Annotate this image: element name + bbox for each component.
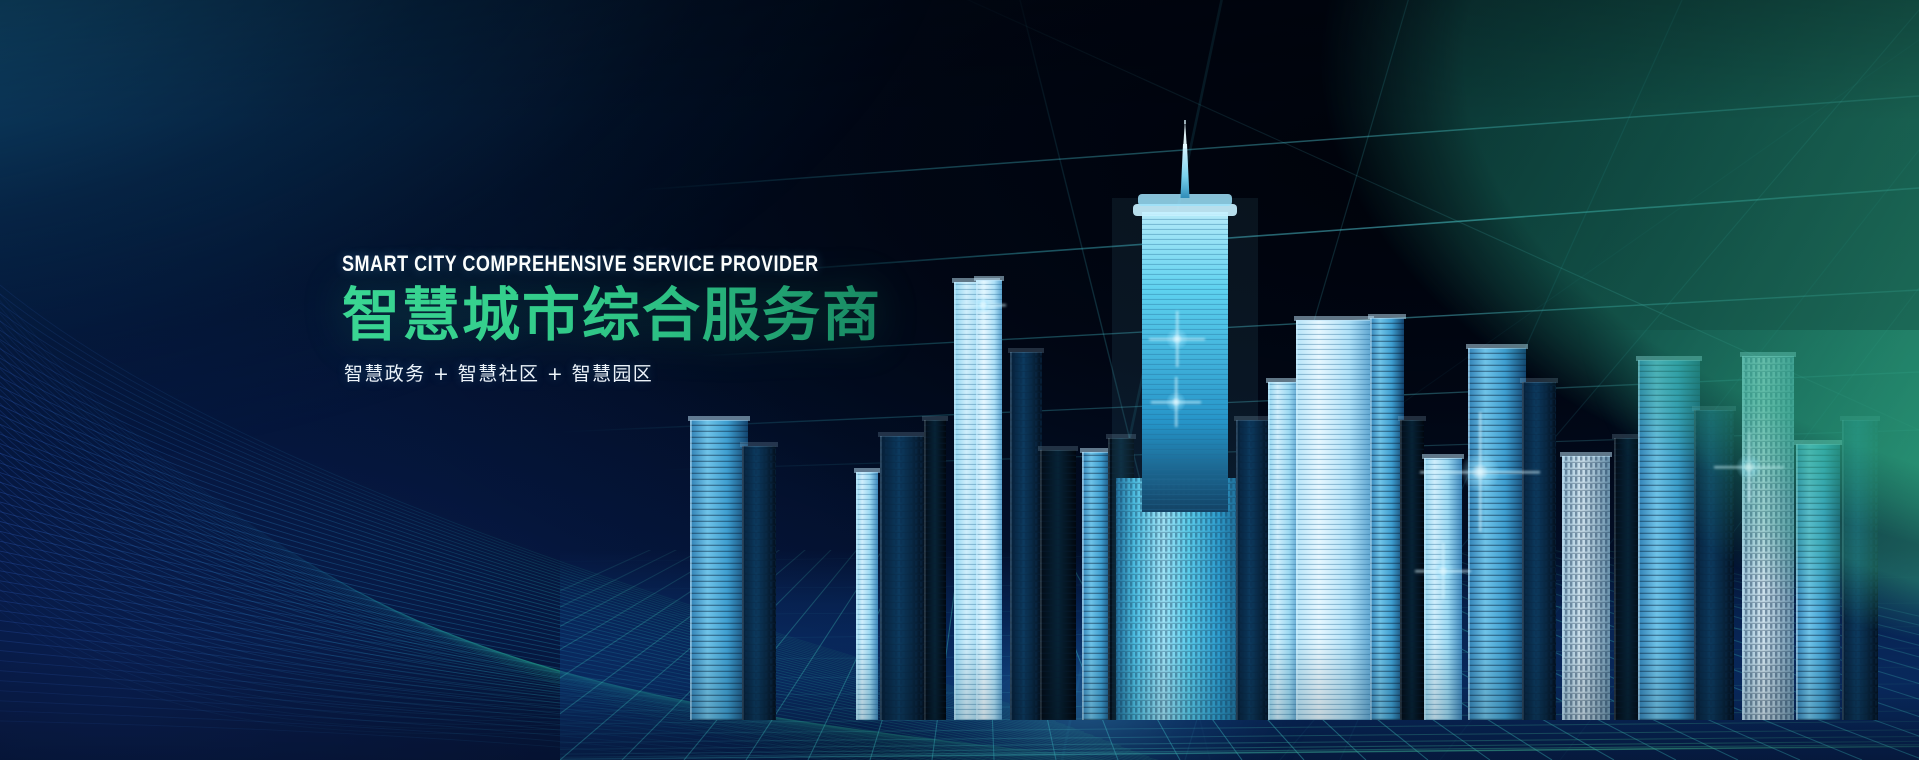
page-title: 智慧城市综合服务商	[342, 284, 923, 347]
eyebrow-text: SMART CITY COMPREHENSIVE SERVICE PROVIDE…	[342, 253, 819, 275]
hero-copy-block: SMART CITY COMPREHENSIVE SERVICE PROVIDE…	[342, 253, 923, 386]
smart-city-3d-skyline	[680, 120, 1919, 760]
smart-city-hero-banner: SMART CITY COMPREHENSIVE SERVICE PROVIDE…	[0, 0, 1919, 760]
tagline-text: 智慧政务 + 智慧社区 + 智慧园区	[344, 359, 923, 386]
city-foreground-blur-layer	[680, 120, 1919, 760]
